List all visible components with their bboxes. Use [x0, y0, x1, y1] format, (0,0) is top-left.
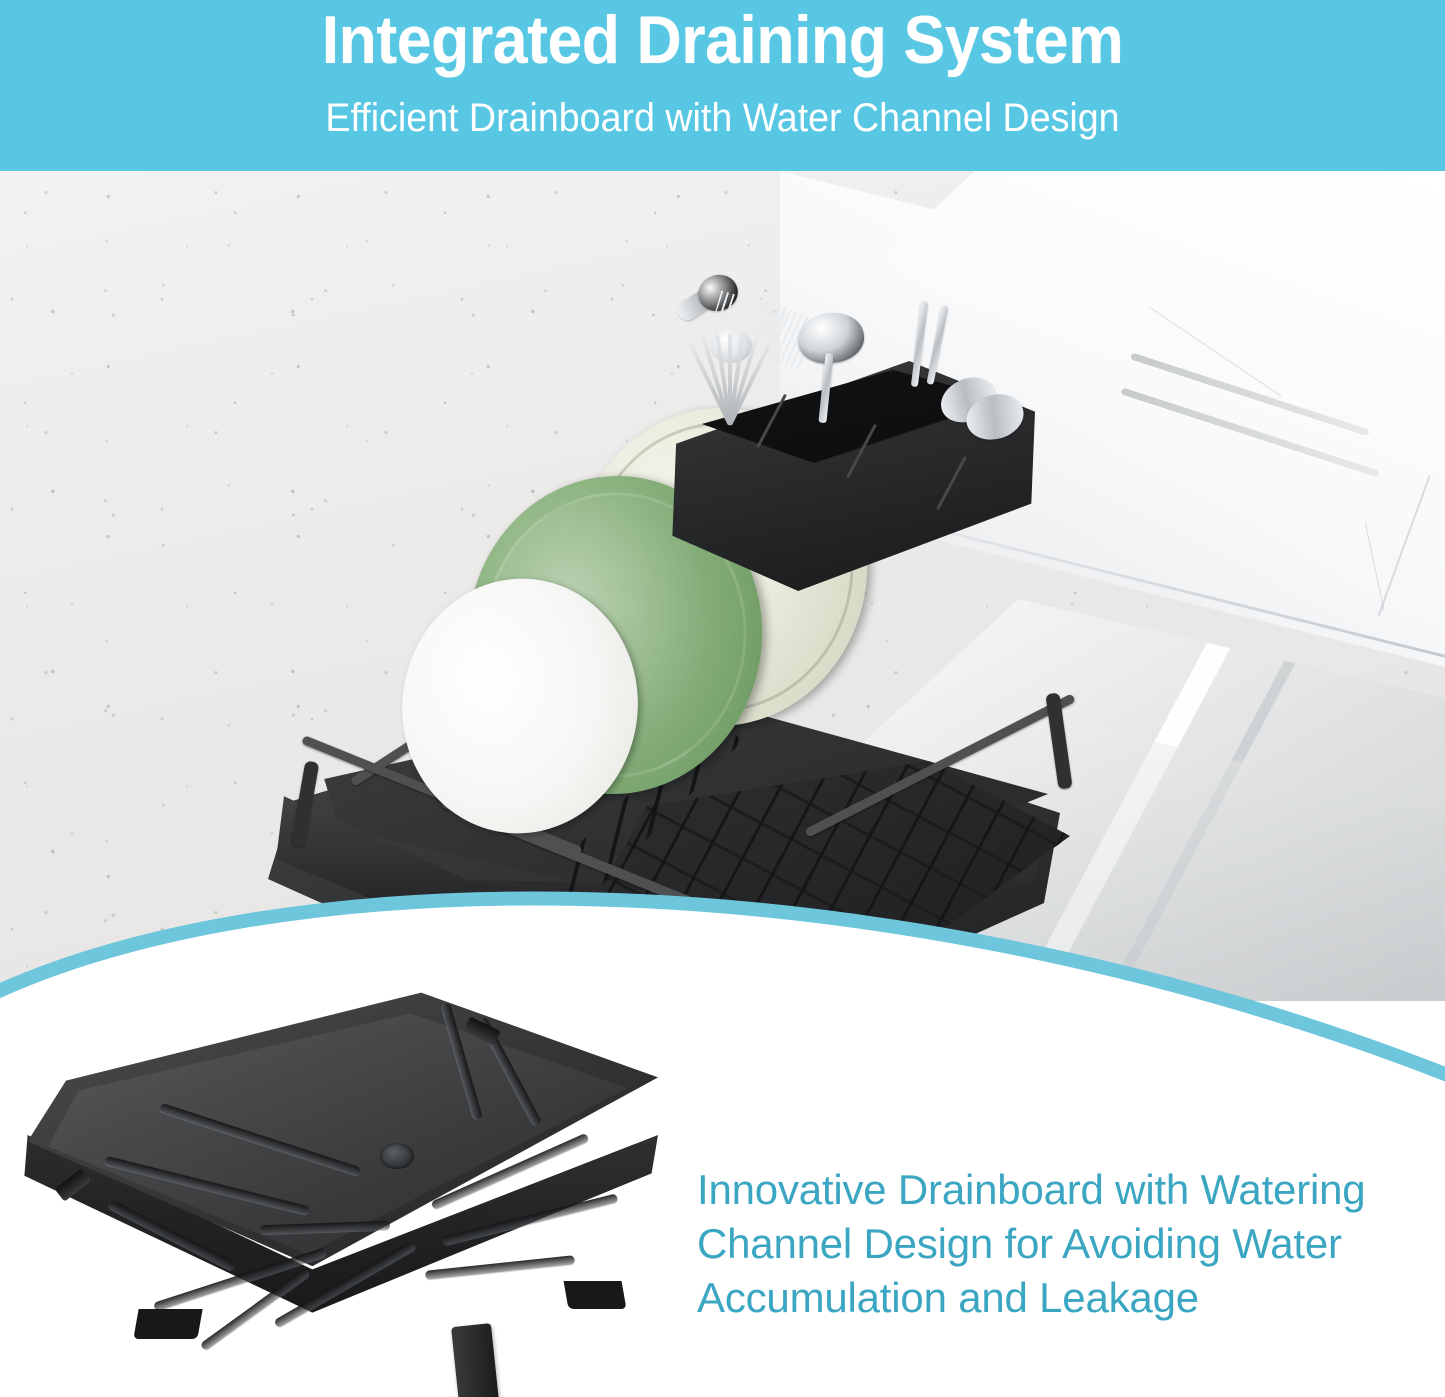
drainboard-product-shot [10, 985, 670, 1385]
drainboard-foot [564, 1281, 627, 1309]
header-banner: Integrated Draining System Efficient Dra… [0, 0, 1445, 171]
product-infographic-page: Integrated Draining System Efficient Dra… [0, 0, 1445, 1397]
caption-line: Channel Design for Avoiding Water [697, 1217, 1437, 1271]
whisk-icon [690, 333, 770, 438]
feature-caption: Innovative Drainboard with Watering Chan… [697, 1163, 1437, 1325]
drainboard-foot [133, 1309, 202, 1339]
basket-handle-left [291, 760, 320, 847]
caption-line: Accumulation and Leakage [697, 1271, 1437, 1325]
hero-photo [0, 171, 1445, 1001]
caption-line: Innovative Drainboard with Watering [697, 1163, 1437, 1217]
page-title: Integrated Draining System [58, 6, 1387, 74]
water-channel [425, 1255, 575, 1280]
drainboard-center-hub [380, 1143, 414, 1169]
basket-handle-right [1045, 692, 1072, 789]
page-subtitle: Efficient Drainboard with Water Channel … [43, 98, 1401, 138]
drainboard-drain-spout [451, 1323, 499, 1397]
dish-drying-rack [250, 271, 1070, 971]
